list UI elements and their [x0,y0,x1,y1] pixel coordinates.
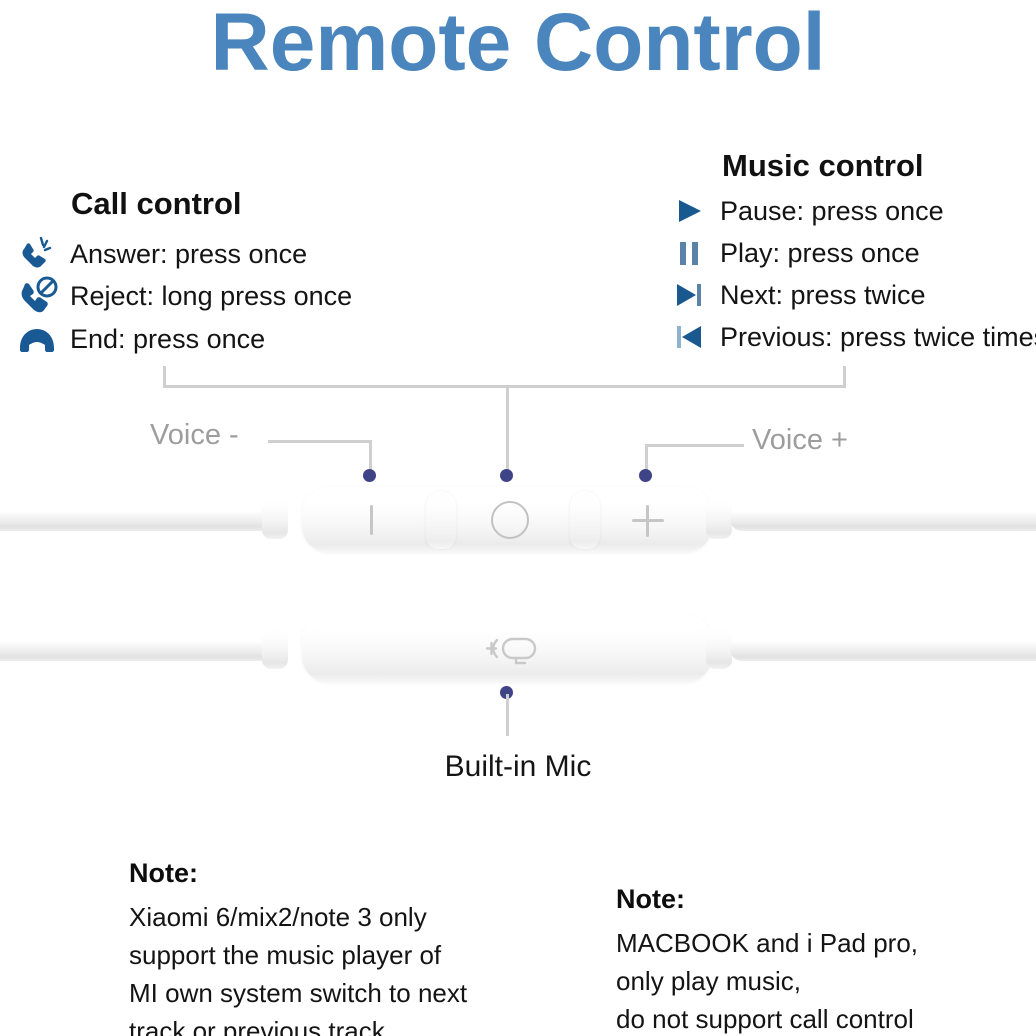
call-control-item-answer: Answer: press once [14,233,307,275]
bracket-center-drop [506,385,509,473]
note-right-line: MACBOOK and i Pad pro, [616,924,918,962]
next-track-icon [672,278,706,312]
call-control-heading: Call control [71,186,242,222]
microphone-connector [506,694,509,736]
previous-track-icon [672,320,706,354]
music-control-item-label: Play: press once [720,240,920,267]
circle-button-glyph [491,501,529,539]
music-control-item-label: Next: press twice [720,282,926,309]
voice-down-connector-horizontal [268,440,372,443]
music-control-item-previous: Previous: press twice times [672,320,1036,354]
cable-right-lower [730,637,1036,661]
note-left: Note: Xiaomi 6/mix2/note 3 only support … [129,858,467,1036]
cable-left-upper [0,507,278,531]
note-right: Note: MACBOOK and i Pad pro, only play m… [616,884,918,1036]
phone-answer-icon [14,233,60,275]
remote-ridge-left [426,491,456,549]
note-right-line: only play music, [616,962,918,1000]
voice-up-connector-horizontal [645,444,744,447]
music-control-item-play: Play: press once [672,236,920,270]
bracket-top-bar [163,385,846,388]
bracket-right-stem [843,366,846,388]
music-control-heading: Music control [722,148,924,184]
note-left-line: support the music player of [129,936,467,974]
remote-ridge-right [570,491,600,549]
callout-dot-volume-up [639,469,652,482]
minus-bar-glyph [370,505,373,535]
cable-left-lower [0,637,278,661]
microphone-icon [483,632,541,671]
music-control-item-label: Pause: press once [720,198,944,225]
phone-end-icon [14,318,60,360]
note-right-heading: Note: [616,884,918,915]
remote-control-infographic: Remote Control Call control Answer: pres… [0,0,1036,1036]
page-title: Remote Control [0,0,1036,90]
cable-collar-right-lower [706,629,732,669]
built-in-mic-label: Built-in Mic [0,750,1036,784]
cable-collar-left-lower [262,629,288,669]
pause-bars-icon [672,236,706,270]
note-right-line: do not support call control [616,1000,918,1036]
plus-glyph-vertical [646,505,649,537]
call-control-item-reject: Reject: long press once [14,275,352,317]
callout-dot-volume-down [363,469,376,482]
note-left-heading: Note: [129,858,467,889]
music-control-item-label: Previous: press twice times [720,324,1036,351]
cable-collar-left-upper [262,499,288,539]
play-triangle-icon [672,194,706,228]
phone-reject-icon [14,275,60,317]
note-left-line: MI own system switch to next [129,974,467,1012]
cable-right-upper [730,507,1036,531]
music-control-item-pause: Pause: press once [672,194,944,228]
note-left-line: Xiaomi 6/mix2/note 3 only [129,898,467,936]
voice-down-label: Voice - [150,419,239,452]
callout-dot-center-button [500,469,513,482]
music-control-item-next: Next: press twice [672,278,926,312]
call-control-item-label: Reject: long press once [70,283,352,310]
call-control-item-label: Answer: press once [70,241,307,268]
voice-up-label: Voice + [752,424,848,457]
cable-collar-right-upper [706,499,732,539]
call-control-item-end: End: press once [14,318,265,360]
note-left-line: track or previous track [129,1012,467,1036]
call-control-item-label: End: press once [70,326,265,353]
